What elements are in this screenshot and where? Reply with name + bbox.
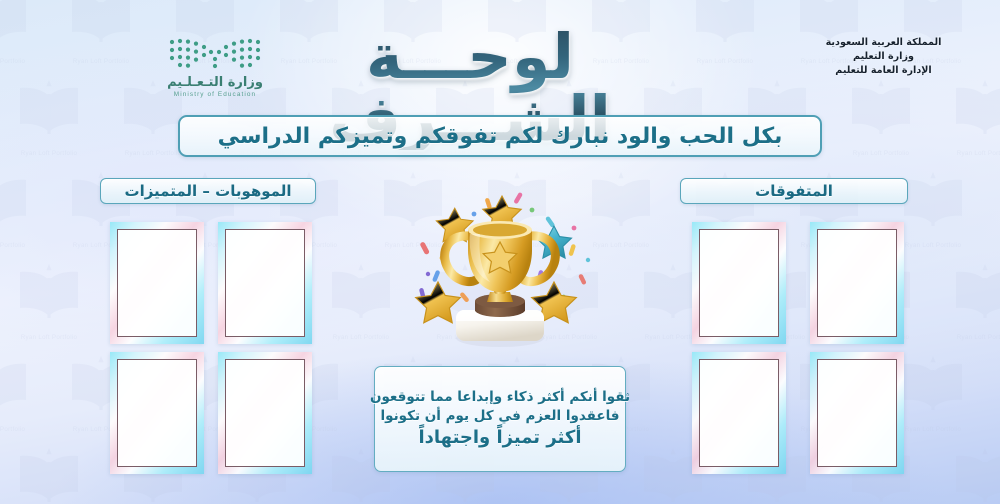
moe-palm-dots-icon — [160, 32, 270, 74]
watermark-open-book-icon: Ryan Loft Portfolio — [896, 350, 970, 424]
photo-frame-gifted-2[interactable] — [218, 222, 312, 344]
watermark-text: Ryan Loft Portfolio — [73, 58, 130, 65]
watermark-text: Ryan Loft Portfolio — [853, 150, 910, 157]
section-header-gifted: الموهوبات – المتميزات — [100, 178, 316, 204]
subtitle-banner: بكل الحب والود نبارك لكم تفوقكم وتميزكم … — [178, 115, 822, 157]
quote-line-3: أكثر تميزاً واجتهاداً — [419, 427, 582, 450]
photo-frame-gifted-3[interactable] — [110, 352, 204, 474]
watermark-text: Ryan Loft Portfolio — [21, 334, 78, 341]
photo-placeholder — [817, 229, 897, 337]
section-header-outstanding: المتفوقات — [680, 178, 908, 204]
photo-placeholder — [817, 359, 897, 467]
watermark-text: Ryan Loft Portfolio — [905, 426, 962, 433]
watermark-open-book-icon: Ryan Loft Portfolio — [64, 0, 138, 56]
watermark-open-book-icon: Ryan Loft Portfolio — [324, 258, 398, 332]
watermark-open-book-icon: Ryan Loft Portfolio — [0, 166, 34, 240]
photo-frame-outstanding-1[interactable] — [692, 222, 786, 344]
subtitle-text: بكل الحب والود نبارك لكم تفوقكم وتميزكم … — [218, 124, 783, 149]
motivational-quote-box: ثقوا أنكم أكثر ذكاء وإبداعا مما تتوقعون … — [374, 366, 626, 472]
watermark-text: Ryan Loft Portfolio — [957, 150, 1000, 157]
photo-frame-gifted-1[interactable] — [110, 222, 204, 344]
photo-placeholder — [117, 229, 197, 337]
watermark-open-book-icon: Ryan Loft Portfolio — [688, 0, 762, 56]
section-header-gifted-label: الموهوبات – المتميزات — [125, 182, 292, 200]
photo-placeholder — [699, 359, 779, 467]
honor-board-poster: Ryan Loft Portfolio Ryan Loft Portfolio — [0, 0, 1000, 504]
watermark-open-book-icon: Ryan Loft Portfolio — [0, 350, 34, 424]
watermark-text: Ryan Loft Portfolio — [905, 242, 962, 249]
ministry-line-department: الإدارة العامة للتعليم — [781, 64, 986, 78]
watermark-open-book-icon: Ryan Loft Portfolio — [948, 442, 1000, 504]
quote-line-1: ثقوا أنكم أكثر ذكاء وإبداعا مما تتوقعون — [370, 389, 630, 406]
watermark-text: Ryan Loft Portfolio — [125, 150, 182, 157]
watermark-open-book-icon: Ryan Loft Portfolio — [12, 442, 86, 504]
watermark-text: Ryan Loft Portfolio — [697, 58, 754, 65]
watermark-text: Ryan Loft Portfolio — [0, 58, 25, 65]
ministry-line-ministry: وزارة التعليم — [781, 50, 986, 64]
photo-frame-gifted-4[interactable] — [218, 352, 312, 474]
watermark-open-book-icon: Ryan Loft Portfolio — [896, 166, 970, 240]
ministry-header-text: المملكة العربية السعودية وزارة التعليم ا… — [781, 36, 986, 78]
watermark-open-book-icon: Ryan Loft Portfolio — [948, 74, 1000, 148]
watermark-text: Ryan Loft Portfolio — [0, 426, 25, 433]
watermark-open-book-icon: Ryan Loft Portfolio — [12, 258, 86, 332]
watermark-open-book-icon: Ryan Loft Portfolio — [948, 258, 1000, 332]
section-header-outstanding-label: المتفوقات — [755, 182, 833, 200]
watermark-text: Ryan Loft Portfolio — [21, 150, 78, 157]
trophy-illustration — [398, 170, 602, 354]
photo-frame-outstanding-4[interactable] — [810, 352, 904, 474]
quote-line-2: فاعقدوا العزم في كل يوم أن تكونوا — [381, 408, 620, 425]
watermark-open-book-icon: Ryan Loft Portfolio — [844, 74, 918, 148]
watermark-open-book-icon: Ryan Loft Portfolio — [12, 74, 86, 148]
photo-placeholder — [699, 229, 779, 337]
photo-frame-outstanding-3[interactable] — [692, 352, 786, 474]
photo-placeholder — [117, 359, 197, 467]
photo-frame-outstanding-2[interactable] — [810, 222, 904, 344]
photo-placeholder — [225, 359, 305, 467]
watermark-text: Ryan Loft Portfolio — [957, 334, 1000, 341]
ministry-line-country: المملكة العربية السعودية — [781, 36, 986, 50]
watermark-open-book-icon: Ryan Loft Portfolio — [0, 0, 34, 56]
photo-placeholder — [225, 229, 305, 337]
watermark-text: Ryan Loft Portfolio — [333, 334, 390, 341]
watermark-text: Ryan Loft Portfolio — [0, 242, 25, 249]
